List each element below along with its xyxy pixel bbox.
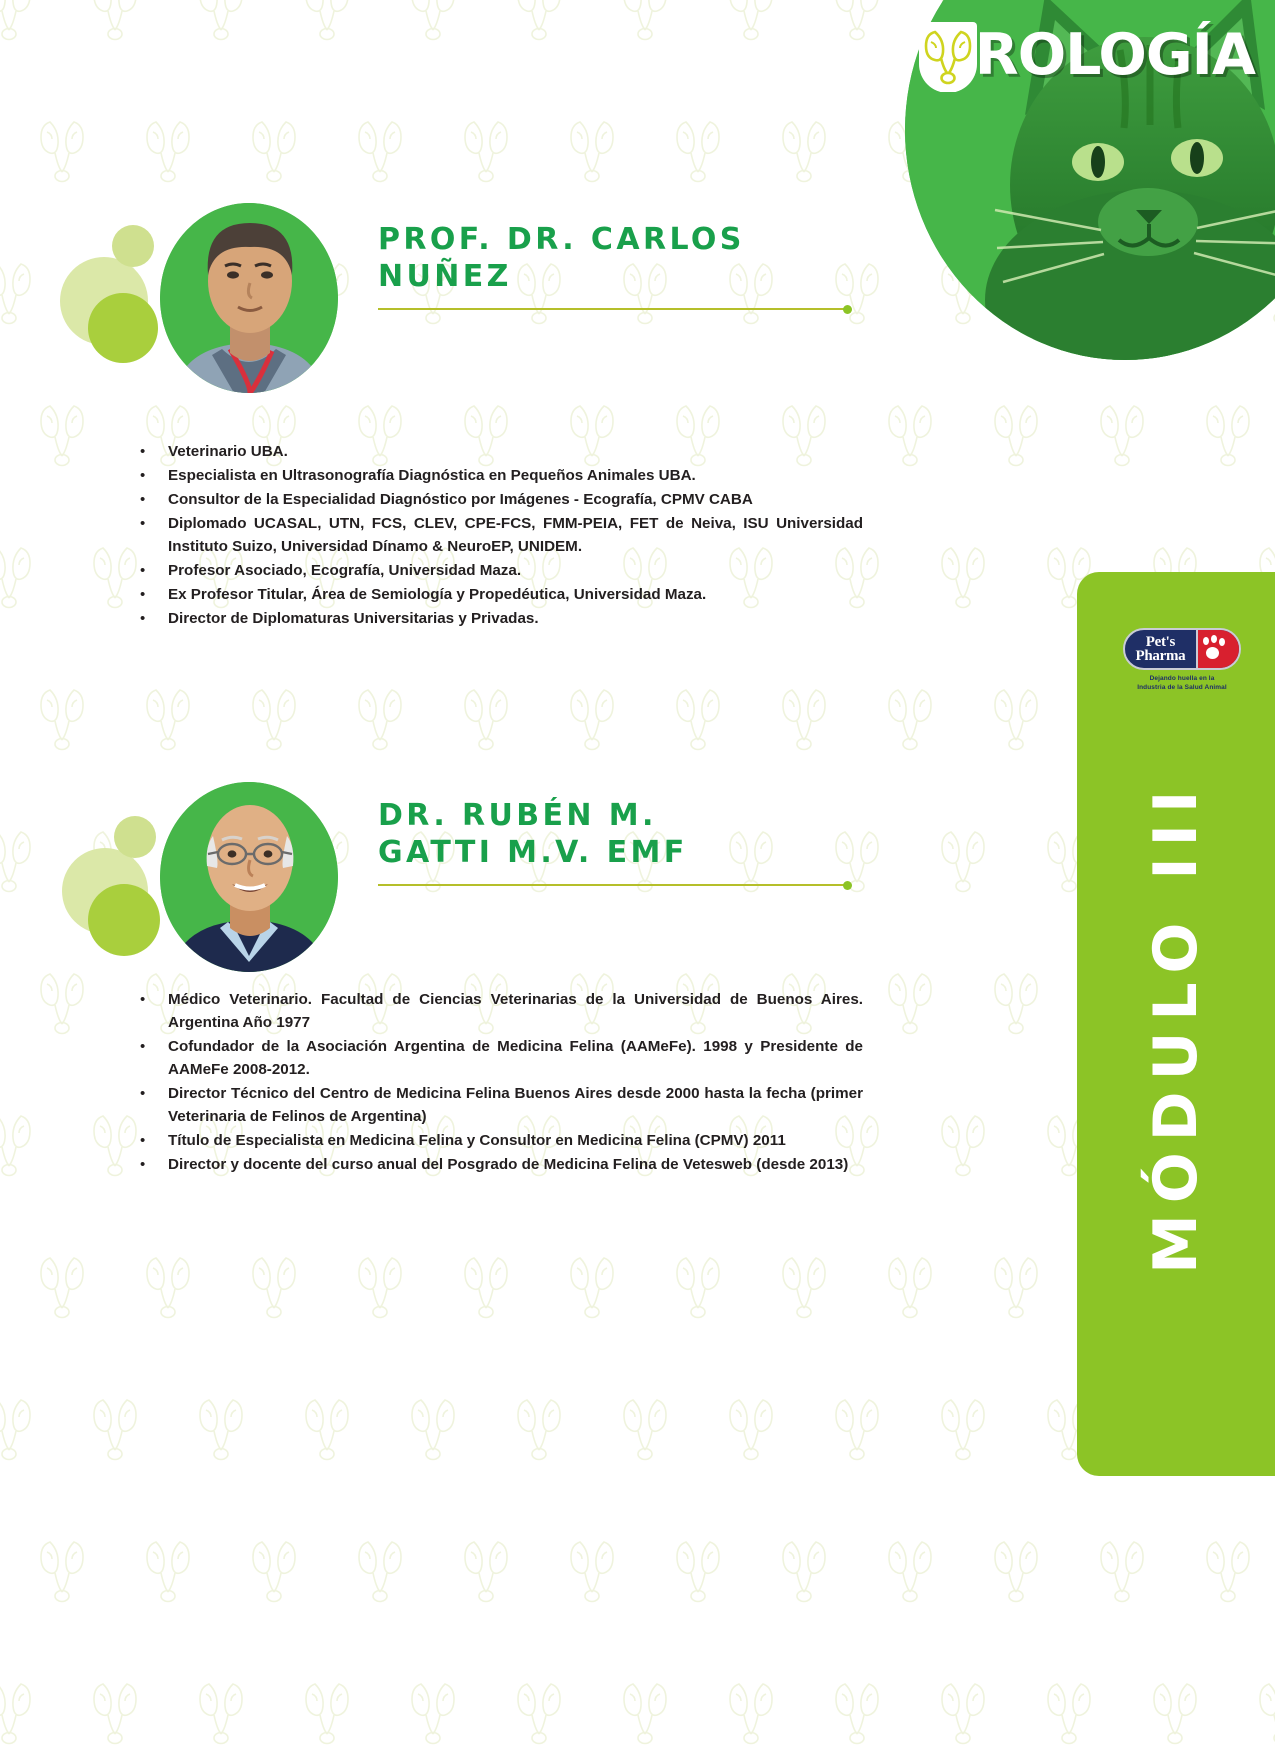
kidney-watermark-icon	[298, 1390, 356, 1466]
kidney-watermark-icon	[934, 1390, 992, 1466]
bullet-dot-icon: •	[128, 988, 168, 1011]
speaker-name-line1: DR. RUBÉN M.	[378, 798, 848, 835]
kidney-watermark-icon	[987, 1532, 1045, 1608]
kidney-watermark-icon	[934, 1674, 992, 1750]
module-label: MÓDULO III	[1141, 780, 1211, 1274]
bullet-dot-icon: •	[128, 440, 168, 463]
kidney-watermark-icon	[404, 1390, 462, 1466]
kidney-watermark-icon	[881, 1532, 939, 1608]
kidney-watermark-icon	[669, 112, 727, 188]
kidney-watermark-icon	[934, 1106, 992, 1182]
kidney-watermark-icon	[1093, 1532, 1151, 1608]
pets-pharma-pill: Pet's Pharma	[1123, 628, 1241, 670]
kidney-watermark-icon	[722, 1674, 780, 1750]
kidney-watermark-icon	[563, 1532, 621, 1608]
decor-circle	[112, 225, 154, 267]
kidney-watermark-icon	[987, 680, 1045, 756]
kidney-watermark-icon	[298, 0, 356, 46]
kidney-watermark-icon	[1252, 1674, 1275, 1750]
list-item: •Título de Especialista en Medicina Feli…	[128, 1129, 863, 1152]
kidney-watermark-icon	[0, 538, 38, 614]
kidney-watermark-icon	[457, 1532, 515, 1608]
pets-pharma-line2: Pharma	[1135, 649, 1185, 663]
kidney-watermark-icon	[987, 396, 1045, 472]
kidney-watermark-icon	[510, 0, 568, 46]
kidney-watermark-icon	[245, 112, 303, 188]
kidney-watermark-icon	[1199, 396, 1257, 472]
list-item-text: Director de Diplomaturas Universitarias …	[168, 607, 863, 630]
kidney-watermark-icon	[33, 1248, 91, 1324]
list-item-text: Título de Especialista en Medicina Felin…	[168, 1129, 863, 1152]
bullet-dot-icon: •	[128, 1035, 168, 1058]
kidney-watermark-icon	[192, 1674, 250, 1750]
kidney-watermark-icon	[404, 1674, 462, 1750]
kidney-watermark-icon	[457, 680, 515, 756]
kidney-watermark-icon	[33, 1532, 91, 1608]
kidney-watermark-icon	[0, 822, 38, 898]
list-item-text: Profesor Asociado, Ecografía, Universida…	[168, 559, 863, 582]
kidney-watermark-icon	[775, 680, 833, 756]
list-item: •Director Técnico del Centro de Medicina…	[128, 1082, 863, 1128]
list-item: •Director de Diplomaturas Universitarias…	[128, 607, 863, 630]
list-item: •Consultor de la Especialidad Diagnóstic…	[128, 488, 863, 511]
kidney-watermark-icon	[563, 112, 621, 188]
kidney-watermark-icon	[1040, 1674, 1098, 1750]
speaker-name: DR. RUBÉN M. GATTI M.V. EMF	[378, 798, 848, 871]
kidney-watermark-icon	[669, 1532, 727, 1608]
list-item-text: Director Técnico del Centro de Medicina …	[168, 1082, 863, 1128]
speaker-name-line2: NUÑEZ	[378, 259, 848, 296]
kidney-watermark-icon	[616, 1390, 674, 1466]
kidney-watermark-icon	[775, 1248, 833, 1324]
kidney-watermark-icon	[881, 1248, 939, 1324]
kidney-watermark-icon	[881, 680, 939, 756]
sponsor-tagline-line1: Dejando huella en la	[1123, 675, 1241, 684]
kidney-watermark-icon	[192, 1390, 250, 1466]
paw-print-icon	[1196, 630, 1239, 668]
kidney-watermark-icon	[828, 0, 886, 46]
list-item: •Cofundador de la Asociación Argentina d…	[128, 1035, 863, 1081]
kidney-watermark-icon	[987, 964, 1045, 1040]
kidney-watermark-icon	[934, 538, 992, 614]
kidney-watermark-icon	[616, 1674, 674, 1750]
speaker-credentials-list: •Veterinario UBA.•Especialista en Ultras…	[128, 440, 863, 631]
speaker-name-block: DR. RUBÉN M. GATTI M.V. EMF	[378, 798, 848, 886]
list-item-text: Veterinario UBA.	[168, 440, 863, 463]
list-item-text: Cofundador de la Asociación Argentina de…	[168, 1035, 863, 1081]
kidney-watermark-icon	[0, 0, 38, 46]
bullet-dot-icon: •	[128, 512, 168, 535]
pets-pharma-wordmark: Pet's Pharma	[1125, 630, 1196, 668]
urologia-logo: ROLOGÍA	[917, 18, 1255, 92]
kidney-u-icon	[917, 18, 979, 92]
avatar	[160, 203, 338, 393]
list-item-text: Director y docente del curso anual del P…	[168, 1153, 863, 1176]
list-item: •Médico Veterinario. Facultad de Ciencia…	[128, 988, 863, 1034]
bullet-dot-icon: •	[128, 488, 168, 511]
kidney-watermark-icon	[298, 1674, 356, 1750]
pets-pharma-line1: Pet's	[1146, 635, 1175, 649]
kidney-watermark-icon	[0, 1390, 38, 1466]
kidney-watermark-icon	[351, 1248, 409, 1324]
kidney-watermark-icon	[1199, 1532, 1257, 1608]
decor-circle	[114, 816, 156, 858]
kidney-watermark-icon	[828, 1390, 886, 1466]
kidney-watermark-icon	[510, 1390, 568, 1466]
kidney-watermark-icon	[669, 1248, 727, 1324]
kidney-watermark-icon	[775, 112, 833, 188]
list-item: •Director y docente del curso anual del …	[128, 1153, 863, 1176]
kidney-watermark-icon	[987, 1248, 1045, 1324]
module-side-panel: MÓDULO III	[1077, 572, 1275, 1476]
kidney-watermark-icon	[245, 680, 303, 756]
kidney-watermark-icon	[245, 1248, 303, 1324]
kidney-watermark-icon	[351, 680, 409, 756]
kidney-watermark-icon	[828, 1674, 886, 1750]
kidney-watermark-icon	[0, 1106, 38, 1182]
kidney-watermark-icon	[0, 254, 38, 330]
kidney-watermark-icon	[33, 396, 91, 472]
kidney-watermark-icon	[934, 822, 992, 898]
speaker-name-block: PROF. DR. CARLOS NUÑEZ	[378, 222, 848, 310]
kidney-watermark-icon	[1093, 396, 1151, 472]
kidney-watermark-icon	[86, 1390, 144, 1466]
speaker-name-line1: PROF. DR. CARLOS	[378, 222, 848, 259]
list-item: •Diplomado UCASAL, UTN, FCS, CLEV, CPE-F…	[128, 512, 863, 558]
kidney-watermark-icon	[139, 680, 197, 756]
kidney-watermark-icon	[722, 1390, 780, 1466]
bullet-dot-icon: •	[128, 1129, 168, 1152]
kidney-watermark-icon	[722, 0, 780, 46]
kidney-watermark-icon	[86, 1674, 144, 1750]
name-underline-rule	[378, 308, 848, 310]
kidney-watermark-icon	[881, 964, 939, 1040]
kidney-watermark-icon	[616, 0, 674, 46]
kidney-watermark-icon	[139, 1532, 197, 1608]
kidney-watermark-icon	[457, 1248, 515, 1324]
decor-circle	[88, 293, 158, 363]
bullet-dot-icon: •	[128, 464, 168, 487]
logo-wordmark: ROLOGÍA	[975, 27, 1255, 84]
list-item: •Profesor Asociado, Ecografía, Universid…	[128, 559, 863, 582]
kidney-watermark-icon	[457, 112, 515, 188]
avatar	[160, 782, 338, 972]
speaker-name-line2: GATTI M.V. EMF	[378, 835, 848, 872]
kidney-watermark-icon	[775, 1532, 833, 1608]
kidney-watermark-icon	[563, 1248, 621, 1324]
kidney-watermark-icon	[1146, 1674, 1204, 1750]
list-item-text: Diplomado UCASAL, UTN, FCS, CLEV, CPE-FC…	[168, 512, 863, 558]
list-item-text: Médico Veterinario. Facultad de Ciencias…	[168, 988, 863, 1034]
kidney-watermark-icon	[351, 112, 409, 188]
kidney-watermark-icon	[0, 1674, 38, 1750]
sponsor-tagline: Dejando huella en la Industria de la Sal…	[1123, 675, 1241, 693]
kidney-watermark-icon	[510, 1674, 568, 1750]
bullet-dot-icon: •	[128, 607, 168, 630]
list-item: •Ex Profesor Titular, Área de Semiología…	[128, 583, 863, 606]
bullet-dot-icon: •	[128, 1153, 168, 1176]
kidney-watermark-icon	[139, 1248, 197, 1324]
list-item-text: Especialista en Ultrasonografía Diagnóst…	[168, 464, 863, 487]
kidney-watermark-icon	[139, 112, 197, 188]
list-item: •Veterinario UBA.	[128, 440, 863, 463]
bullet-dot-icon: •	[128, 1082, 168, 1105]
kidney-watermark-icon	[245, 1532, 303, 1608]
speaker-name: PROF. DR. CARLOS NUÑEZ	[378, 222, 848, 295]
kidney-watermark-icon	[33, 112, 91, 188]
kidney-watermark-icon	[404, 0, 462, 46]
list-item: •Especialista en Ultrasonografía Diagnós…	[128, 464, 863, 487]
pets-pharma-logo: Pet's Pharma Dejando huella en la Indust…	[1123, 628, 1241, 693]
kidney-watermark-icon	[192, 0, 250, 46]
bullet-dot-icon: •	[128, 559, 168, 582]
kidney-watermark-icon	[351, 1532, 409, 1608]
decor-circle	[88, 884, 160, 956]
kidney-watermark-icon	[669, 680, 727, 756]
kidney-watermark-icon	[33, 680, 91, 756]
name-underline-rule	[378, 884, 848, 886]
speaker-credentials-list: •Médico Veterinario. Facultad de Ciencia…	[128, 988, 863, 1177]
kidney-watermark-icon	[563, 680, 621, 756]
list-item-text: Consultor de la Especialidad Diagnóstico…	[168, 488, 863, 511]
list-item-text: Ex Profesor Titular, Área de Semiología …	[168, 583, 863, 606]
kidney-watermark-icon	[881, 396, 939, 472]
bullet-dot-icon: •	[128, 583, 168, 606]
sponsor-tagline-line2: Industria de la Salud Animal	[1123, 684, 1241, 693]
kidney-watermark-icon	[86, 0, 144, 46]
